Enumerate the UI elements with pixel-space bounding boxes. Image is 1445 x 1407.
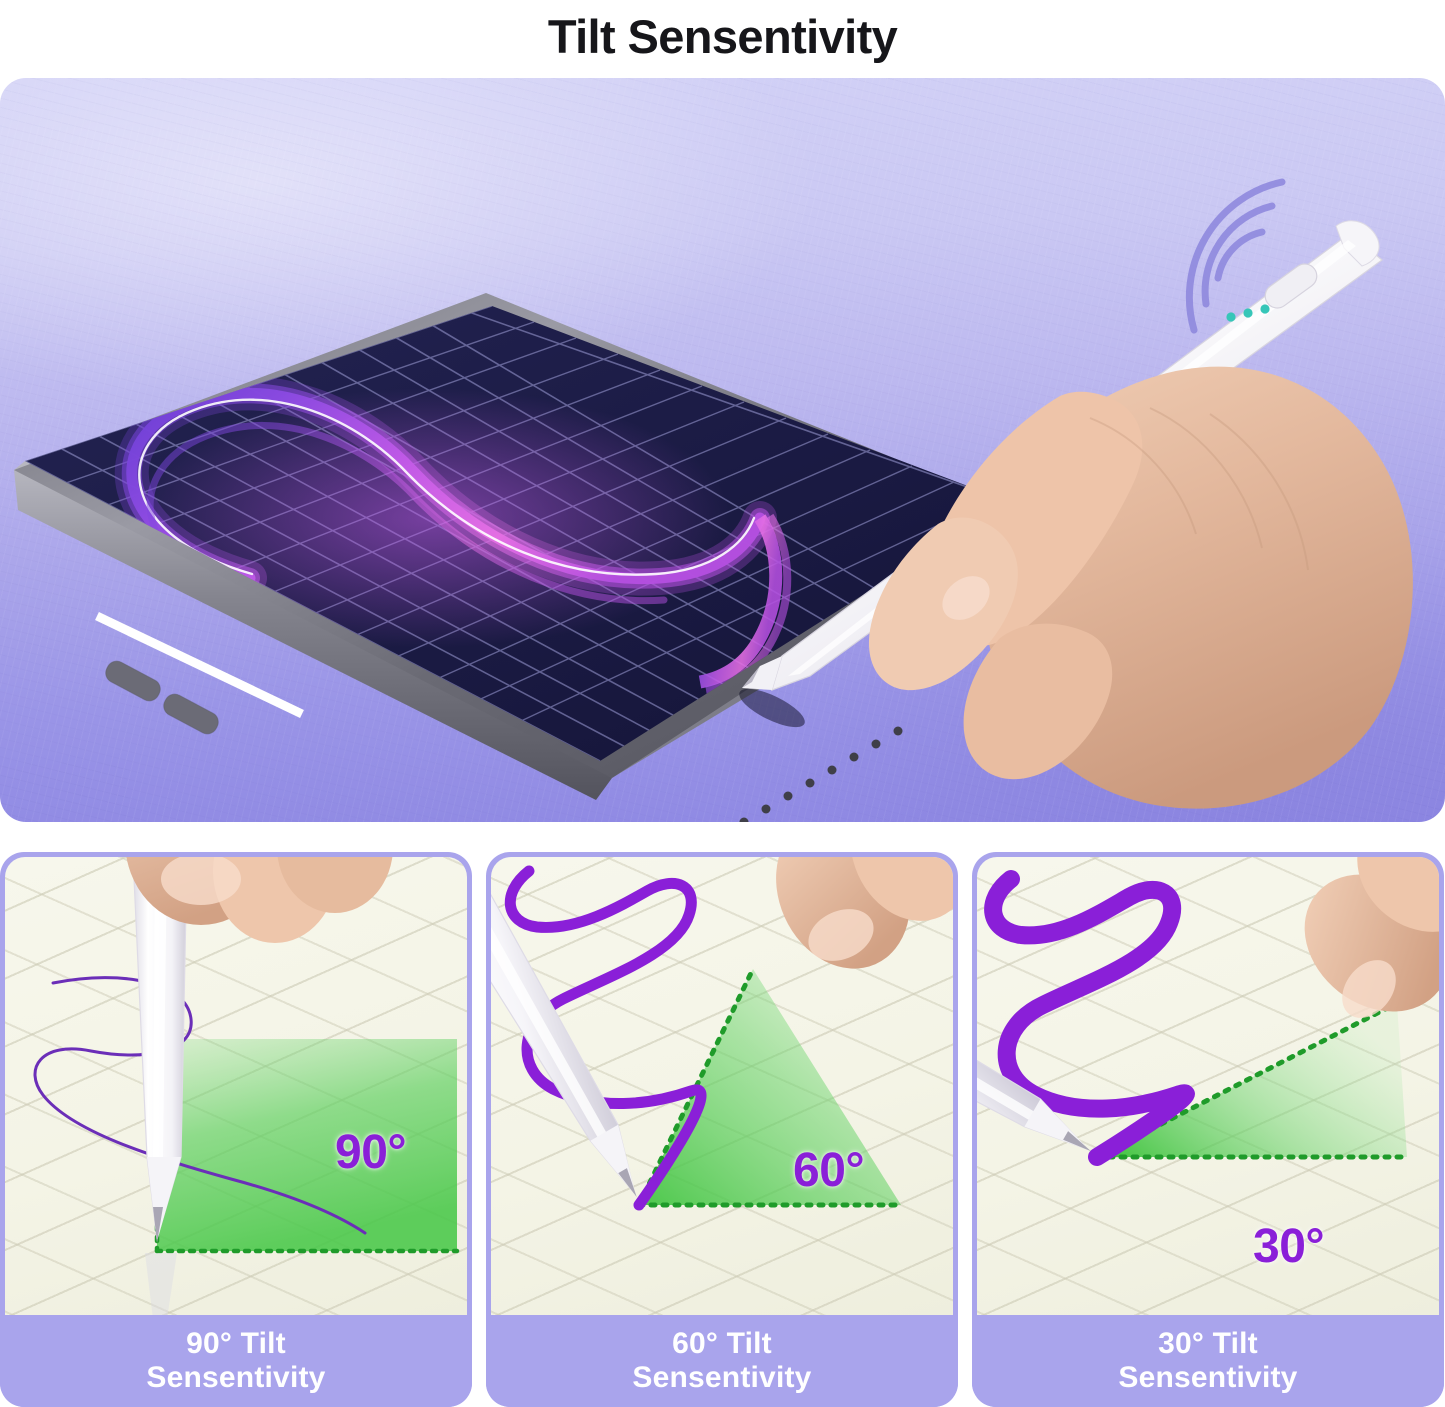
panel-30-caption-line2: Sensentivity — [1118, 1361, 1297, 1395]
tablet-device — [14, 293, 1030, 822]
panel-90-caption-line2: Sensentivity — [146, 1361, 325, 1395]
tablet-speaker-grille — [696, 727, 903, 823]
panel-90-degree[interactable]: 90° 90° Tilt Sensentivity — [0, 852, 472, 1407]
panel-60-degree[interactable]: 60° 60° Tilt Sensentivity — [486, 852, 958, 1407]
panel-90-caption-line1: 90° Tilt — [186, 1327, 286, 1361]
panel-30-stage: 30° — [977, 857, 1439, 1327]
panel-90-stage: 90° — [5, 857, 467, 1327]
panel-60-caption-line2: Sensentivity — [632, 1361, 811, 1395]
product-feature-graphic: Tilt Sensentivity — [0, 0, 1445, 1407]
panel-60-illustration — [491, 857, 953, 1327]
hand-60 — [752, 857, 953, 990]
angle-label-30: 30° — [1253, 1219, 1324, 1274]
panel-30-degree[interactable]: 30° 30° Tilt Sensentivity — [972, 852, 1444, 1407]
hero-panel — [0, 78, 1445, 822]
panel-90-caption: 90° Tilt Sensentivity — [0, 1315, 472, 1407]
panel-30-illustration — [977, 857, 1439, 1327]
hero-illustration — [0, 78, 1445, 822]
panel-60-caption-line1: 60° Tilt — [672, 1327, 772, 1361]
hand-holding-stylus — [869, 367, 1413, 809]
panel-90-illustration — [5, 857, 467, 1327]
angle-label-90: 90° — [335, 1125, 406, 1180]
panel-60-caption: 60° Tilt Sensentivity — [486, 1315, 958, 1407]
hand-30 — [1277, 857, 1439, 1040]
panel-30-caption: 30° Tilt Sensentivity — [972, 1315, 1444, 1407]
page-title: Tilt Sensentivity — [0, 0, 1445, 72]
angle-indicator-90 — [157, 1039, 457, 1251]
panel-30-caption-line1: 30° Tilt — [1158, 1327, 1258, 1361]
angle-label-60: 60° — [793, 1143, 864, 1198]
panel-60-stage: 60° — [491, 857, 953, 1327]
tilt-comparison-panels: 90° 90° Tilt Sensentivity — [0, 852, 1445, 1407]
